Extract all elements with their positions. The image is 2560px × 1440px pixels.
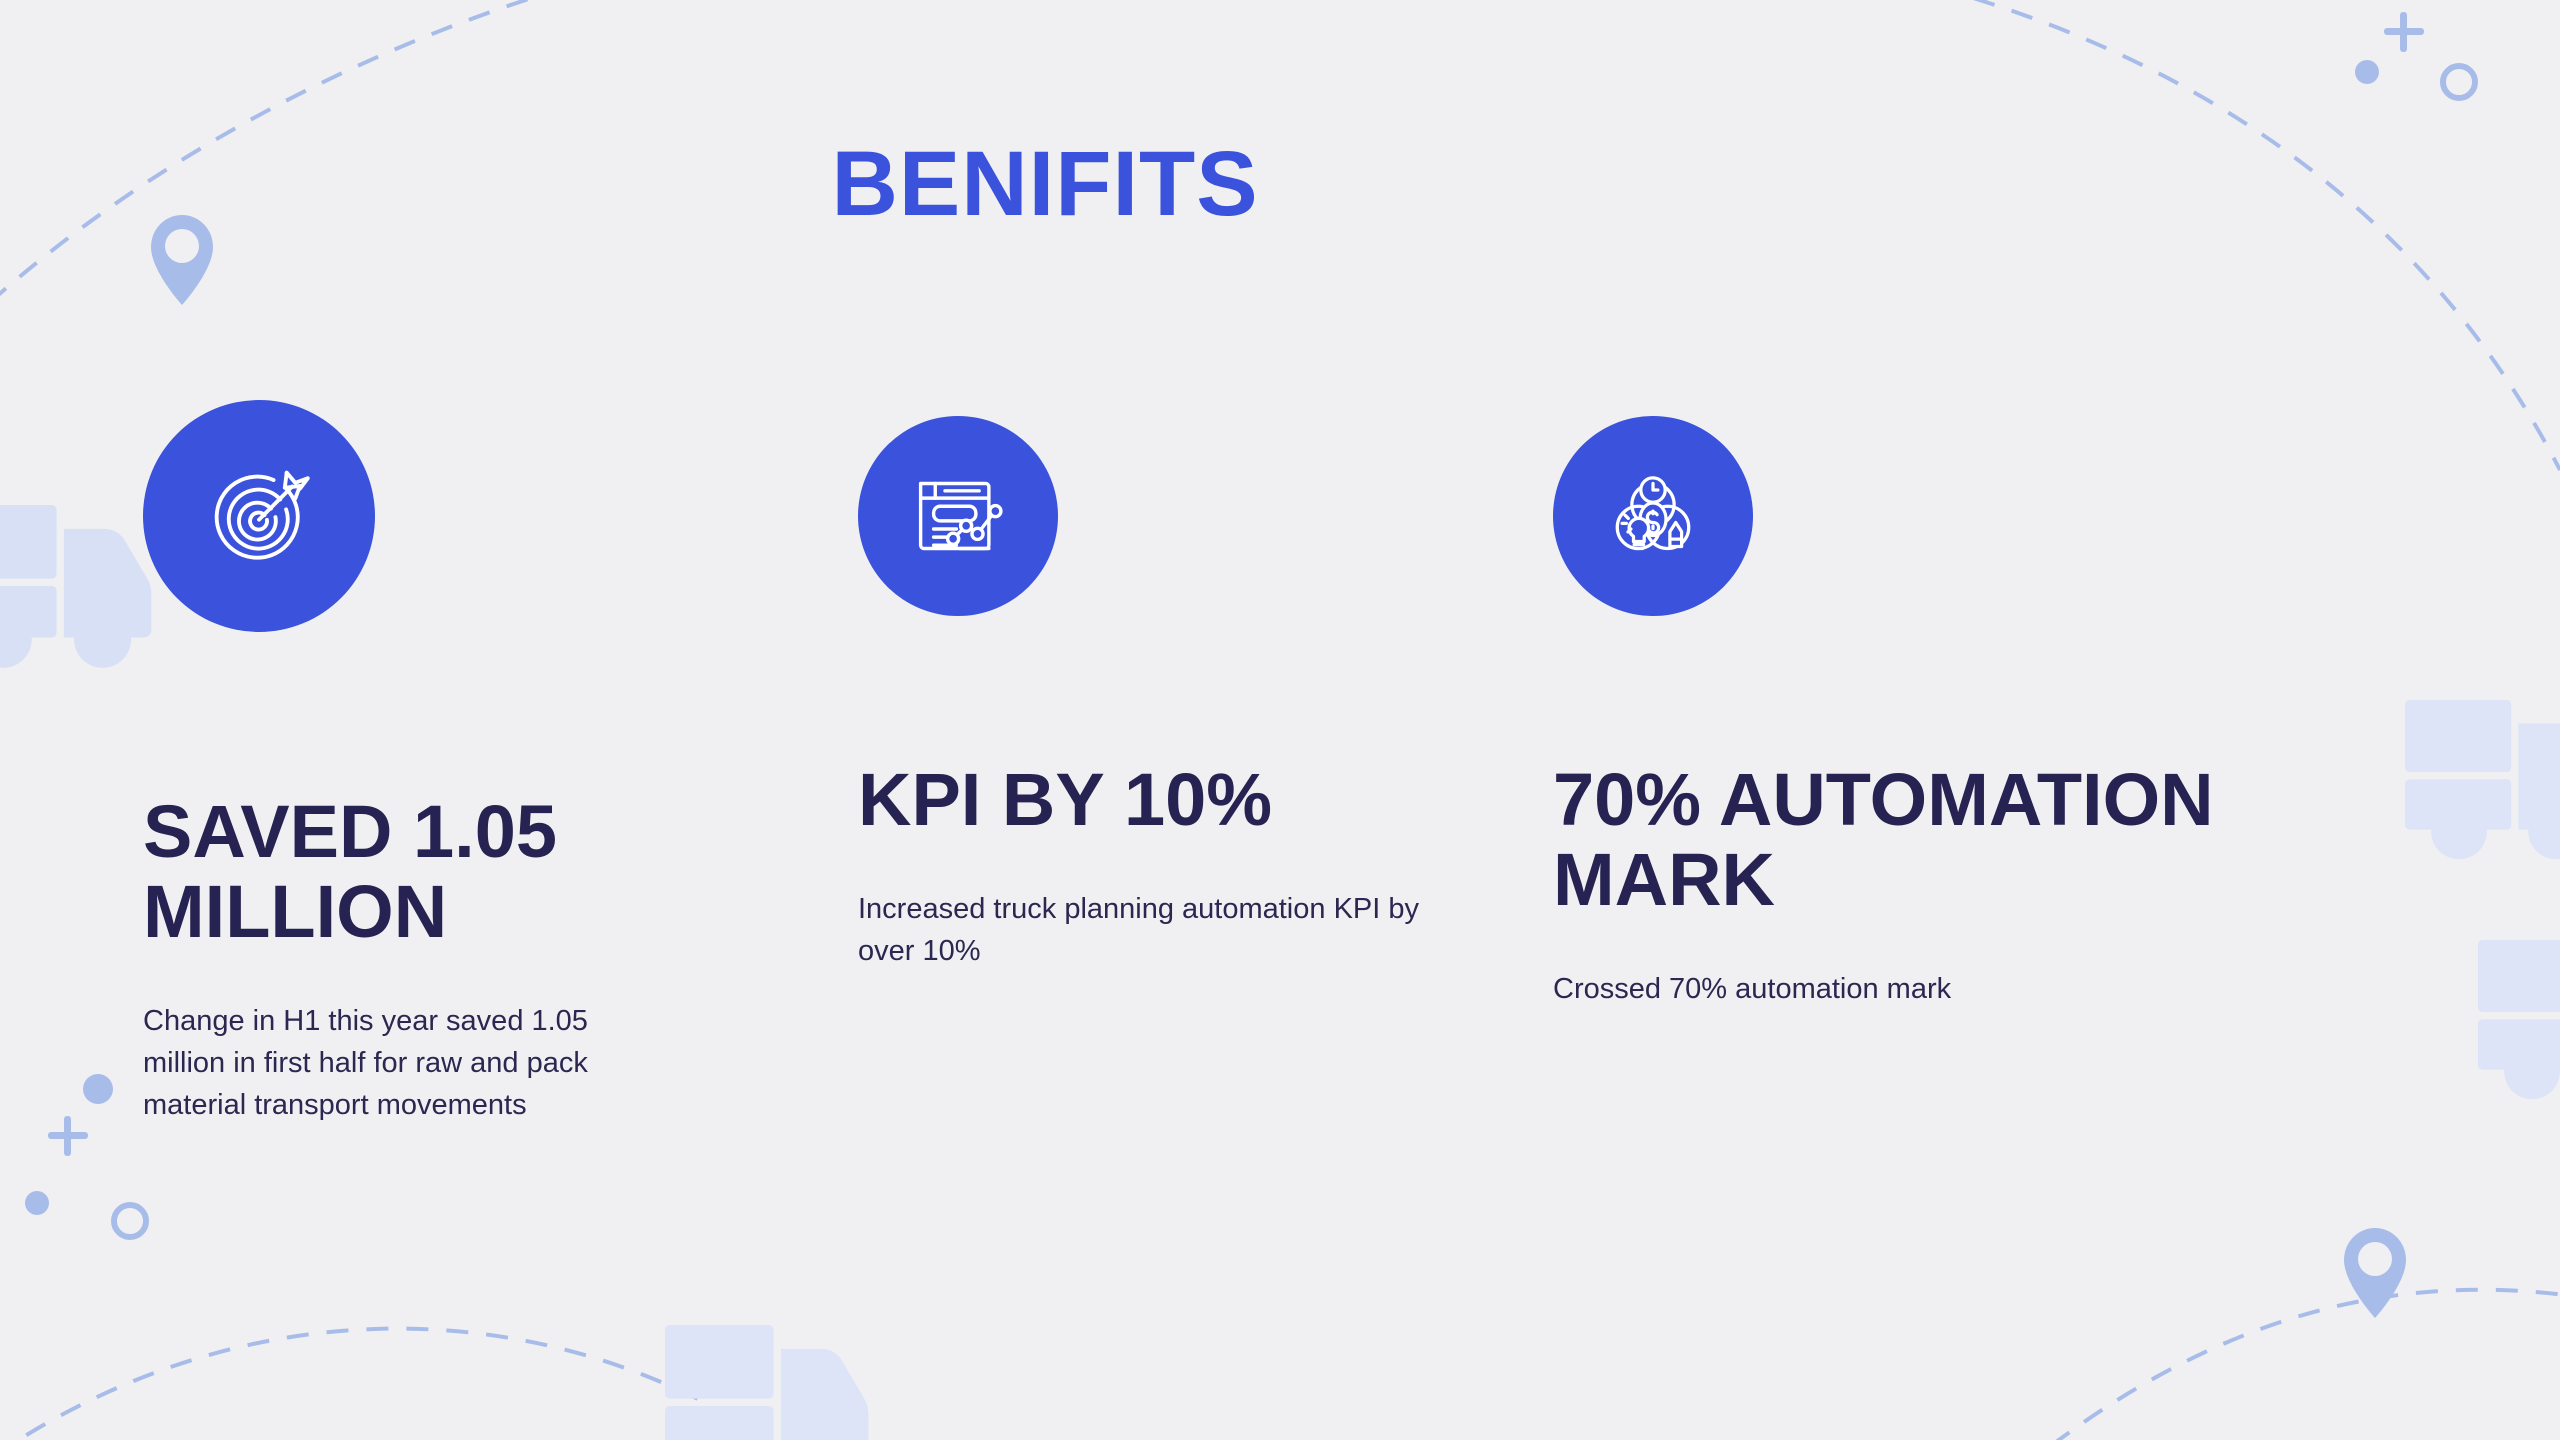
benefit-column-2: KPI BY 10% Increased truck planning auto… bbox=[858, 400, 1458, 972]
page-title: BENIFITS bbox=[0, 138, 2090, 230]
benefit-body-1: Change in H1 this year saved 1.05 millio… bbox=[143, 1000, 663, 1126]
truck-icon-bottom-center bbox=[665, 1325, 868, 1440]
map-pin-hole-bottom-right bbox=[2358, 1242, 2392, 1276]
benefit-body-2: Increased truck planning automation KPI … bbox=[858, 888, 1458, 972]
analytics-report-icon bbox=[906, 464, 1010, 568]
benefit-icon-circle-3 bbox=[1553, 416, 1753, 616]
benefit-heading-3: 70% AUTOMATION MARK bbox=[1553, 760, 2433, 920]
slide-canvas: BENIFITS SAVED 1.05 MILLION Change in H1… bbox=[0, 0, 2560, 1440]
deco-cluster-bottom-left bbox=[25, 1116, 146, 1237]
benefit-body-3: Crossed 70% automation mark bbox=[1553, 968, 2253, 1010]
benefit-heading-2: KPI BY 10% bbox=[858, 760, 1418, 840]
bullet-dot-icon bbox=[83, 1074, 113, 1104]
benefit-icon-circle-2 bbox=[858, 416, 1058, 616]
benefits-columns: SAVED 1.05 MILLION Change in H1 this yea… bbox=[0, 400, 2560, 1126]
benefit-heading-1: SAVED 1.05 MILLION bbox=[143, 792, 703, 952]
venn-resources-icon bbox=[1601, 464, 1705, 568]
benefit-column-3: 70% AUTOMATION MARK Crossed 70% automati… bbox=[1553, 400, 2433, 1010]
benefit-column-1: SAVED 1.05 MILLION Change in H1 this yea… bbox=[143, 400, 743, 1126]
benefit-icon-circle-1 bbox=[143, 400, 375, 632]
dashed-arc-bottom-left bbox=[0, 1329, 700, 1440]
dashed-arc-bottom-right bbox=[2020, 1290, 2560, 1440]
map-pin-hole-top-left bbox=[165, 229, 199, 263]
target-arrow-icon bbox=[200, 457, 318, 575]
deco-cluster-top-right bbox=[2355, 12, 2475, 98]
